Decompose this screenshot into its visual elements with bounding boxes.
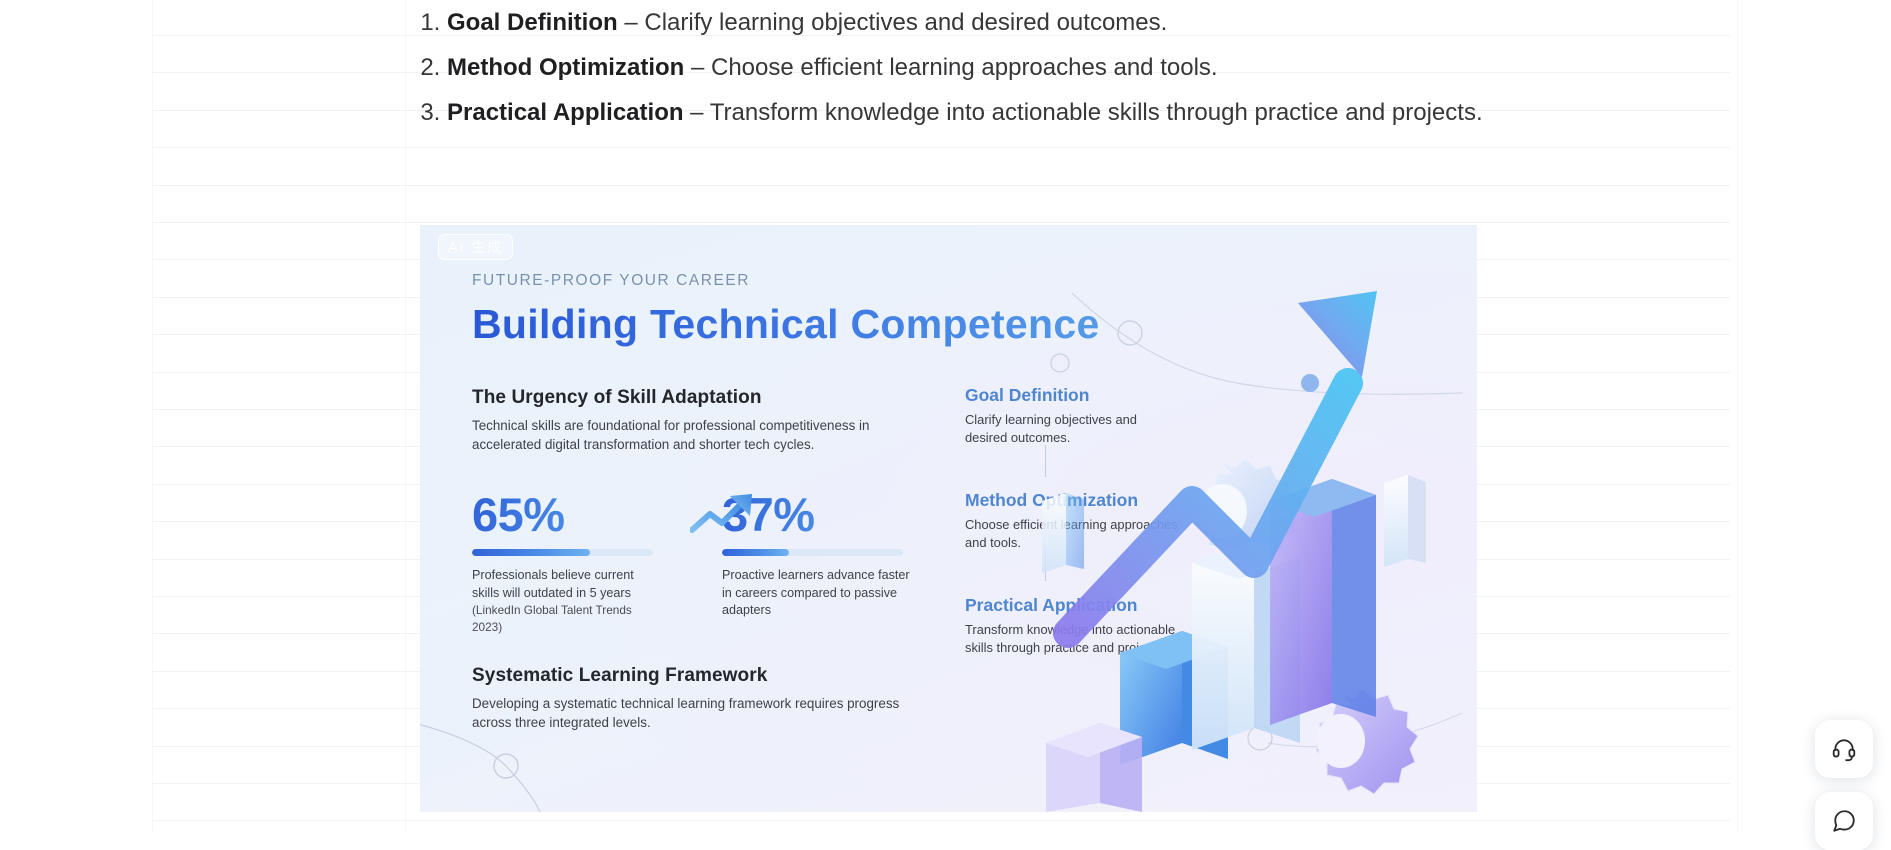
infographic-eyebrow: FUTURE-PROOF YOUR CAREER <box>472 272 1172 290</box>
framework-step-desc: Transform knowledge into actionable skil… <box>965 621 1180 656</box>
list-item-term: Method Optimization <box>447 54 684 81</box>
framework-step-practical-application: Practical Application Transform knowledg… <box>965 595 1180 656</box>
stat-value: 65% <box>472 489 662 541</box>
chat-icon <box>1831 808 1857 834</box>
infographic-image[interactable]: AI 生成 FUTURE-PROOF YOUR CAREER Building … <box>420 225 1477 812</box>
list-item: Practical Application – Transform knowle… <box>447 90 1737 135</box>
article-body: Goal Definition – Clarify learning objec… <box>405 0 1737 135</box>
list-item-term: Practical Application <box>447 99 684 126</box>
chat-button[interactable] <box>1815 792 1873 850</box>
stat-progress-track <box>472 549 653 556</box>
step-connector-line <box>1045 445 1046 477</box>
infographic-header: FUTURE-PROOF YOUR CAREER Building Techni… <box>472 272 1172 348</box>
list-item: Method Optimization – Choose efficient l… <box>447 45 1737 90</box>
stat-progress-track <box>722 549 903 556</box>
list-item-term: Goal Definition <box>447 9 618 36</box>
stat-caption: Proactive learners advance faster in car… <box>722 567 912 620</box>
page-vertical-rule-right <box>1737 0 1738 832</box>
page-rule <box>152 185 1730 186</box>
framework-title: Systematic Learning Framework <box>472 665 942 687</box>
headset-icon <box>1831 736 1857 762</box>
urgency-body: Technical skills are foundational for pr… <box>472 416 912 454</box>
page-rule <box>152 147 1730 148</box>
framework-step-title: Method Optimization <box>965 490 1180 511</box>
stat-progress-fill <box>472 549 590 556</box>
page-rule <box>152 222 1730 223</box>
framework-steps: Goal Definition Clarify learning objecti… <box>965 385 1180 657</box>
step-connector-line <box>1045 549 1046 581</box>
page-rule <box>152 820 1730 821</box>
list-item-desc: – Clarify learning objectives and desire… <box>618 9 1168 36</box>
urgency-block: The Urgency of Skill Adaptation Technica… <box>472 387 912 454</box>
framework-step-desc: Clarify learning objectives and desired … <box>965 411 1180 446</box>
trend-up-arrow-icon <box>690 492 762 538</box>
ai-generated-badge: AI 生成 <box>438 234 513 260</box>
page-vertical-rule-left <box>152 0 153 832</box>
urgency-title: The Urgency of Skill Adaptation <box>472 387 912 409</box>
framework-body: Developing a systematic technical learni… <box>472 694 942 732</box>
support-button[interactable] <box>1815 720 1873 778</box>
framework-step-goal-definition: Goal Definition Clarify learning objecti… <box>965 385 1180 446</box>
stat-caption: Professionals believe current skills wil… <box>472 567 662 602</box>
list-item: Goal Definition – Clarify learning objec… <box>447 0 1737 45</box>
infographic-title: Building Technical Competence <box>472 300 1172 348</box>
stat-card: 65% Professionals believe current skills… <box>472 489 662 636</box>
stat-progress-fill <box>722 549 789 556</box>
list-item-desc: – Choose efficient learning approaches a… <box>684 54 1217 81</box>
framework-step-title: Goal Definition <box>965 385 1180 406</box>
framework-step-title: Practical Application <box>965 595 1180 616</box>
list-item-desc: – Transform knowledge into actionable sk… <box>684 99 1483 126</box>
framework-step-method-optimization: Method Optimization Choose efficient lea… <box>965 490 1180 551</box>
framework-block: Systematic Learning Framework Developing… <box>472 665 942 732</box>
floating-action-stack <box>1813 720 1875 850</box>
framework-step-desc: Choose efficient learning approaches and… <box>965 516 1180 551</box>
numbered-step-list: Goal Definition – Clarify learning objec… <box>405 0 1737 135</box>
stat-source: (LinkedIn Global Talent Trends 2023) <box>472 602 662 636</box>
